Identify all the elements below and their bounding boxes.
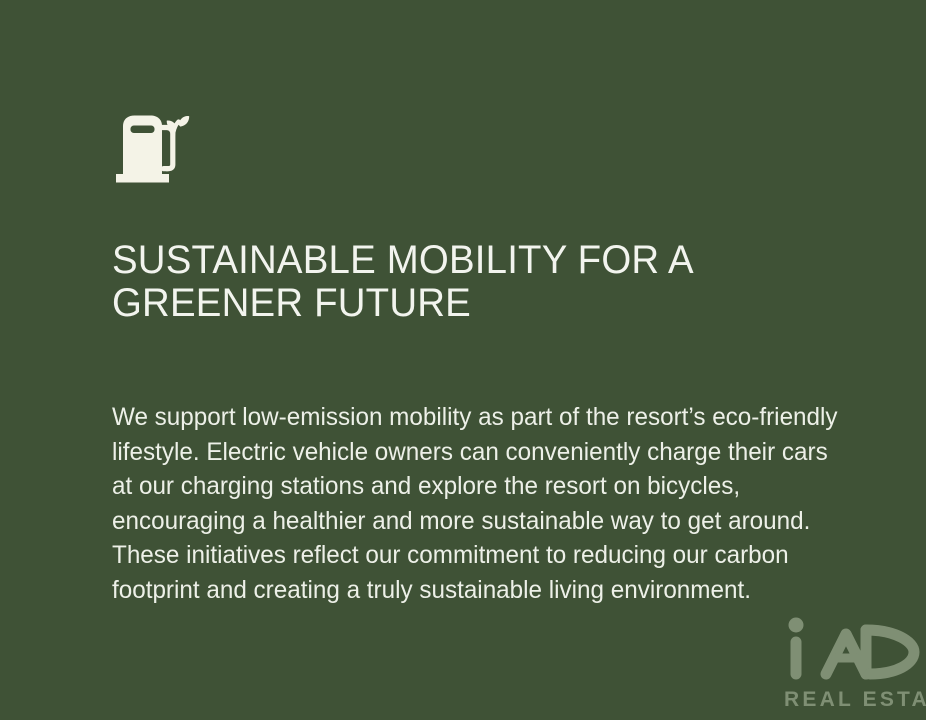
slide-canvas: SUSTAINABLE MOBILITY FOR A GREENER FUTUR… [0,0,926,720]
page-title-line-2: GREENER FUTURE [112,282,784,325]
page-title: SUSTAINABLE MOBILITY FOR A GREENER FUTUR… [112,239,784,325]
eco-fuel-pump-icon [110,112,190,186]
body-paragraph: We support low-emission mobility as part… [112,400,849,607]
page-title-line-1: SUSTAINABLE MOBILITY FOR A [112,239,784,282]
iad-watermark: REAL ESTATE [784,612,926,720]
watermark-tagline: REAL ESTATE [784,688,926,712]
